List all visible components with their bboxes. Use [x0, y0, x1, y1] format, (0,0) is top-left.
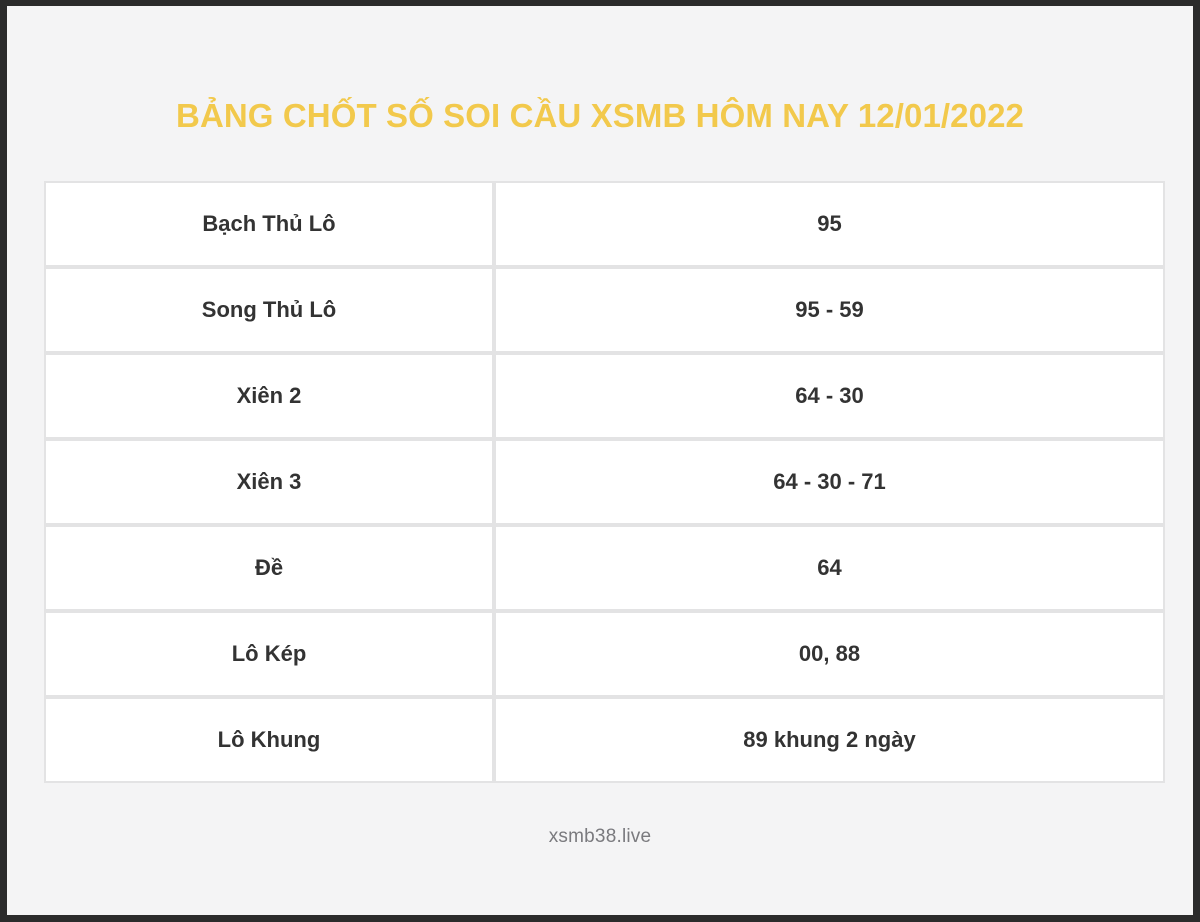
site-footer-url: xsmb38.live	[7, 826, 1193, 848]
bet-number-value: 89 khung 2 ngày	[494, 697, 1165, 783]
bet-number-value: 00, 88	[494, 611, 1165, 697]
bet-type-label: Đề	[44, 525, 494, 611]
table-body: Bạch Thủ Lô95Song Thủ Lô95 - 59Xiên 264 …	[44, 181, 1165, 783]
bet-type-label: Xiên 3	[44, 439, 494, 525]
bet-type-label: Lô Kép	[44, 611, 494, 697]
bet-type-label: Bạch Thủ Lô	[44, 181, 494, 267]
bet-type-label: Lô Khung	[44, 697, 494, 783]
bet-number-value: 64 - 30 - 71	[494, 439, 1165, 525]
bet-number-value: 64	[494, 525, 1165, 611]
table-row: Song Thủ Lô95 - 59	[44, 267, 1165, 353]
table-row: Xiên 264 - 30	[44, 353, 1165, 439]
table-row: Xiên 364 - 30 - 71	[44, 439, 1165, 525]
bet-type-label: Song Thủ Lô	[44, 267, 494, 353]
table-row: Lô Kép00, 88	[44, 611, 1165, 697]
page-root: BẢNG CHỐT SỐ SOI CẦU XSMB HÔM NAY 12/01/…	[7, 6, 1193, 915]
browser-viewport-frame: BẢNG CHỐT SỐ SOI CẦU XSMB HÔM NAY 12/01/…	[0, 0, 1200, 922]
bet-number-value: 95	[494, 181, 1165, 267]
bet-number-value: 95 - 59	[494, 267, 1165, 353]
table-row: Bạch Thủ Lô95	[44, 181, 1165, 267]
lottery-prediction-table: Bạch Thủ Lô95Song Thủ Lô95 - 59Xiên 264 …	[44, 181, 1165, 783]
page-title: BẢNG CHỐT SỐ SOI CẦU XSMB HÔM NAY 12/01/…	[7, 94, 1193, 138]
bet-type-label: Xiên 2	[44, 353, 494, 439]
table-row: Lô Khung89 khung 2 ngày	[44, 697, 1165, 783]
table-row: Đề64	[44, 525, 1165, 611]
bet-number-value: 64 - 30	[494, 353, 1165, 439]
